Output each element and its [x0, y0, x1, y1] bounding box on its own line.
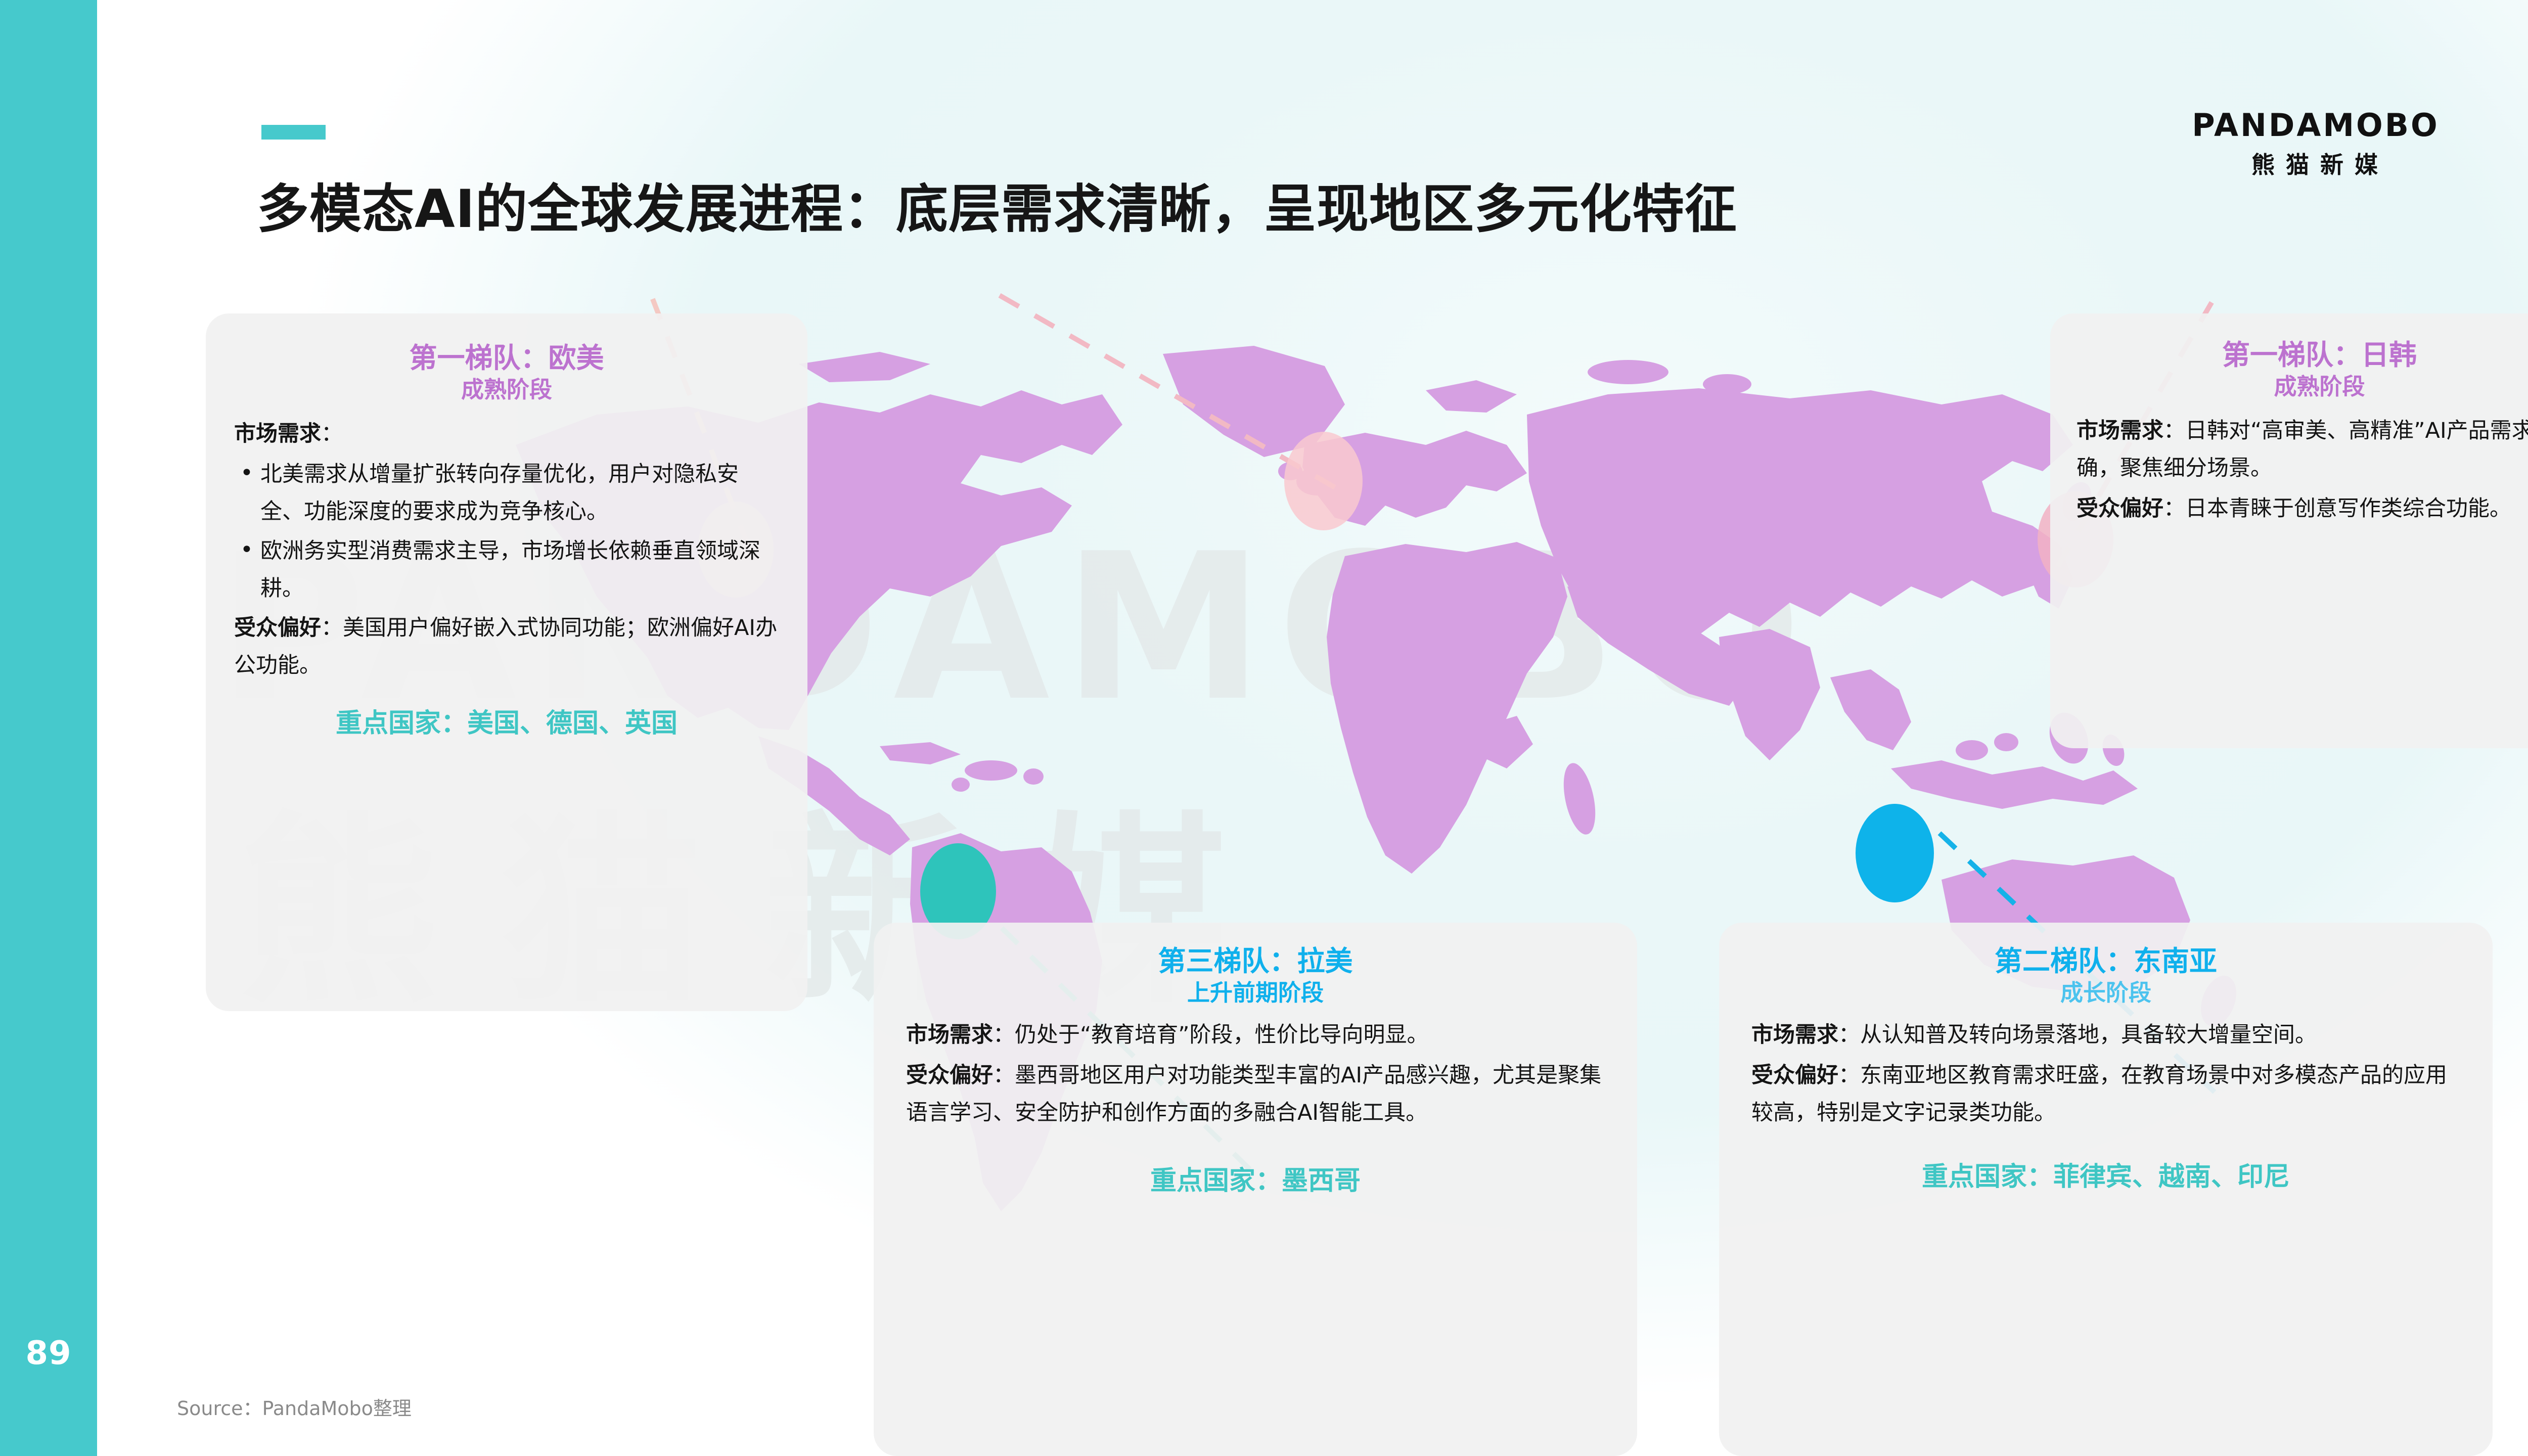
card-stage-label-eu: 成熟阶段	[234, 377, 779, 402]
left-rail	[0, 0, 97, 1456]
page-number: 89	[0, 1335, 97, 1372]
card-tier1-europe-america[interactable]: 第一梯队：欧美 成熟阶段 市场需求： 北美需求从增量扩张转向存量优化，用户对隐私…	[206, 313, 807, 1011]
pref-paragraph-eu: 受众偏好：美国用户偏好嵌入式协同功能；欧洲偏好AI办公功能。	[234, 610, 779, 685]
card-stage-label-jk: 成熟阶段	[2076, 374, 2528, 399]
card-tier2-southeast-asia[interactable]: 第二梯队：东南亚 成长阶段 市场需求：从认知普及转向场景落地，具备较大增量空间。…	[1719, 923, 2493, 1456]
brand-logo-cn: 熊猫新媒	[2183, 147, 2457, 180]
card-title-jk: 第一梯队：日韩 成熟阶段	[2076, 340, 2528, 399]
list-item: 北美需求从增量扩张转向存量优化，用户对隐私安全、功能深度的要求成为竞争核心。	[260, 456, 779, 531]
pref-paragraph-jk: 受众偏好：日本青睐于创意写作类综合功能。	[2076, 490, 2528, 528]
connector-europe	[890, 293, 1335, 487]
europe-marker	[1284, 432, 1363, 530]
demand-bullets-eu: 北美需求从增量扩张转向存量优化，用户对隐私安全、功能深度的要求成为竞争核心。 欧…	[234, 456, 779, 608]
demand-heading-eu: 市场需求：	[234, 416, 779, 453]
slide-root: PANDAMOBO 熊猫新媒	[0, 0, 2528, 1456]
demand-paragraph-latam: 市场需求：仍处于“教育培育”阶段，性价比导向明显。	[906, 1017, 1605, 1054]
title-accent-bar	[261, 125, 326, 140]
card-title-eu: 第一梯队：欧美 成熟阶段	[234, 343, 779, 402]
card-tier3-latin-america[interactable]: 第三梯队：拉美 上升前期阶段 市场需求：仍处于“教育培育”阶段，性价比导向明显。…	[874, 923, 1637, 1456]
pref-paragraph-sea: 受众偏好：东南亚地区教育需求旺盛，在教育场景中对多模态产品的应用较高，特别是文字…	[1751, 1057, 2460, 1132]
card-foot-eu: 重点国家：美国、德国、英国	[234, 702, 779, 740]
card-foot-latam: 重点国家：墨西哥	[906, 1159, 1605, 1197]
card-body-eu: 市场需求： 北美需求从增量扩张转向存量优化，用户对隐私安全、功能深度的要求成为竞…	[234, 416, 779, 685]
card-body-latam: 市场需求：仍处于“教育培育”阶段，性价比导向明显。 受众偏好：墨西哥地区用户对功…	[906, 1017, 1605, 1132]
card-stage-label-sea: 成长阶段	[1751, 980, 2460, 1006]
brand-logo: PANDAMOBO 熊猫新媒	[2174, 109, 2457, 180]
card-title-sea: 第二梯队：东南亚 成长阶段	[1751, 946, 2460, 1006]
page-title: 多模态AI的全球发展进程：底层需求清晰，呈现地区多元化特征	[257, 167, 2128, 242]
card-tier-label-sea: 第二梯队：东南亚	[1751, 946, 2460, 977]
card-tier-label-latam: 第三梯队：拉美	[906, 946, 1605, 977]
card-stage-label-latam: 上升前期阶段	[906, 980, 1605, 1006]
card-tier1-japan-korea[interactable]: 第一梯队：日韩 成熟阶段 市场需求：日韩对“高审美、高精准”AI产品需求明确，聚…	[2050, 313, 2528, 748]
source-note: Source：PandaMobo整理	[177, 1393, 412, 1421]
card-foot-sea: 重点国家：菲律宾、越南、印尼	[1751, 1155, 2460, 1193]
list-item: 欧洲务实型消费需求主导，市场增长依赖垂直领域深耕。	[260, 533, 779, 608]
card-tier-label-jk: 第一梯队：日韩	[2076, 340, 2528, 371]
demand-paragraph-sea: 市场需求：从认知普及转向场景落地，具备较大增量空间。	[1751, 1017, 2460, 1054]
card-tier-label-eu: 第一梯队：欧美	[234, 343, 779, 374]
card-body-sea: 市场需求：从认知普及转向场景落地，具备较大增量空间。 受众偏好：东南亚地区教育需…	[1751, 1017, 2460, 1132]
card-title-latam: 第三梯队：拉美 上升前期阶段	[906, 946, 1605, 1006]
southeast-asia-marker	[1856, 804, 1934, 902]
brand-logo-en: PANDAMOBO	[2174, 109, 2457, 142]
pref-paragraph-latam: 受众偏好：墨西哥地区用户对功能类型丰富的AI产品感兴趣，尤其是聚集语言学习、安全…	[906, 1057, 1605, 1132]
demand-paragraph-jk: 市场需求：日韩对“高审美、高精准”AI产品需求明确，聚焦细分场景。	[2076, 413, 2528, 487]
card-body-jk: 市场需求：日韩对“高审美、高精准”AI产品需求明确，聚焦细分场景。 受众偏好：日…	[2076, 413, 2528, 528]
